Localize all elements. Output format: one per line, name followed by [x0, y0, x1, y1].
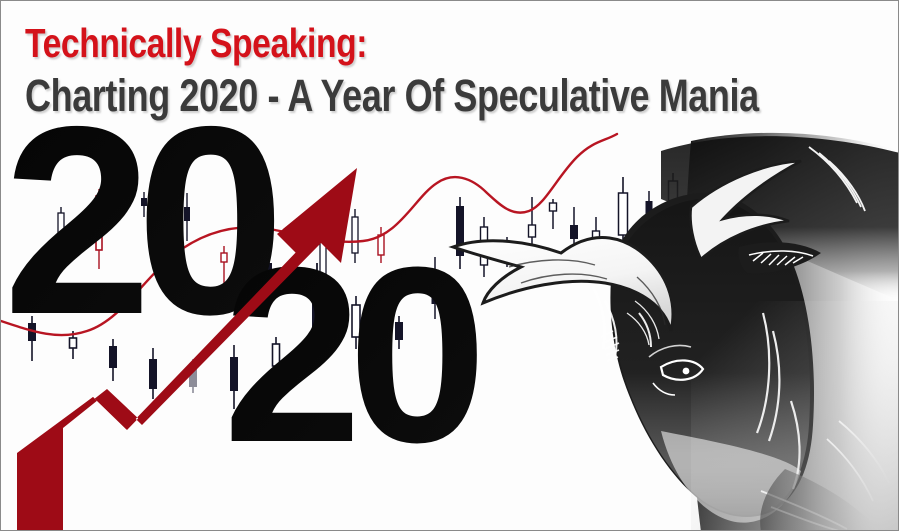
banner-artwork: 20 20 [1, 1, 898, 530]
artwork-canvas: 20 20 [1, 1, 898, 530]
corner-vignette [691, 301, 898, 530]
banner-image: 20 20 [0, 0, 899, 531]
numeral-20-bottom: 20 [223, 215, 477, 494]
